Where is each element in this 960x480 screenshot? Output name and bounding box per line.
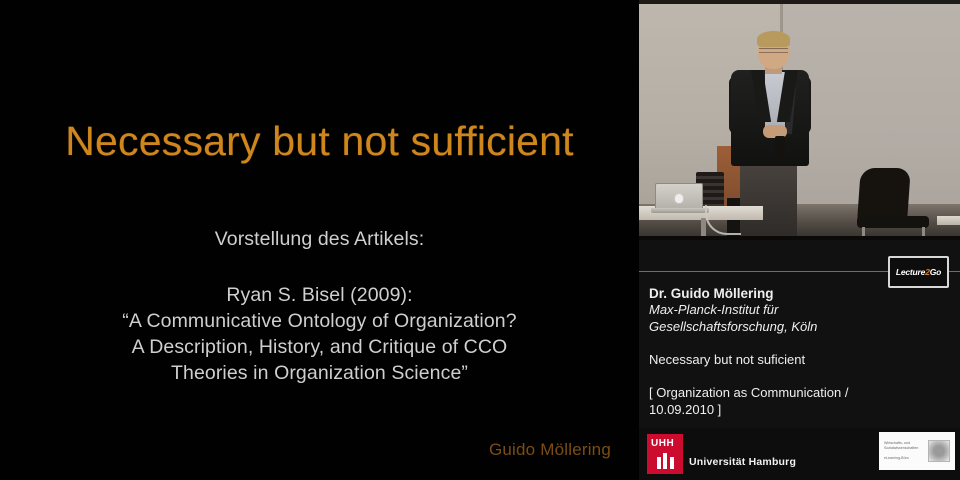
speaker-hair [757,31,790,47]
speaker-affiliation-line: Gesellschaftsforschung, Köln [649,319,949,336]
slide-body-line: Theories in Organization Science” [0,360,639,386]
slide-body-line: “A Communicative Ontology of Organizatio… [0,308,639,334]
faculty-line-2: Sozialwissenschaften [884,446,928,451]
faculty-seal-icon [928,440,950,462]
speaker-name: Dr. Guido Möllering [649,285,949,302]
footer-logo-bar: UHH Universität Hamburg Wirtschafts- und… [639,428,960,480]
slide-body-line: Ryan S. Bisel (2009): [0,282,639,308]
slide-author-credit: Guido Möllering [489,440,611,460]
apple-logo-icon [675,194,683,203]
chair-right-back [857,168,911,220]
laptop-base [651,208,709,213]
right-panel: Lecture2Go Dr. Guido Möllering Max-Planc… [639,0,960,480]
university-hamburg-logo[interactable]: UHH Universität Hamburg [647,434,807,474]
lecture2go-part1: Lecture [896,267,925,277]
university-name: Universität Hamburg [689,456,796,468]
talk-title: Necessary but not suficient [649,351,949,368]
slide-body: Vorstellung des Artikels: Ryan S. Bisel … [0,226,639,386]
faculty-logo-text: Wirtschafts- und Sozialwissenschaften eL… [879,441,928,461]
lecture2go-logo[interactable]: Lecture2Go [888,256,949,288]
hamburg-gate-icon [657,453,674,469]
slide-body-spacer [0,252,639,282]
uhh-abbreviation: UHH [651,438,674,449]
faculty-logo[interactable]: Wirtschafts- und Sozialwissenschaften eL… [879,432,955,470]
handheld-microphone [775,136,785,158]
faculty-line-3: eLearning-Büro [884,456,928,461]
desk-right [937,216,960,225]
lecture-series-line: [ Organization as Communication / [649,384,949,401]
lecture-date-line: 10.09.2010 ] [649,401,949,418]
lecture2go-logo-text: Lecture2Go [896,267,941,277]
speaker-glasses [759,48,788,53]
slide-title: Necessary but not sufficient [0,118,639,165]
video-bottom-letterbox [639,236,960,240]
chair-right-seat [857,216,929,228]
lecture-player-screen: Necessary but not sufficient Vorstellung… [0,0,960,480]
slide-body-line: Vorstellung des Artikels: [0,226,639,252]
speaker-affiliation-line: Max-Planck-Institut für [649,302,949,319]
presentation-slide[interactable]: Necessary but not sufficient Vorstellung… [0,0,639,480]
slide-body-line: A Description, History, and Critique of … [0,334,639,360]
lecture-series-meta: [ Organization as Communication / 10.09.… [649,384,949,418]
lecture-metadata: Dr. Guido Möllering Max-Planck-Institut … [649,285,949,418]
video-player[interactable] [639,0,960,240]
lecture2go-part3: Go [930,267,941,277]
